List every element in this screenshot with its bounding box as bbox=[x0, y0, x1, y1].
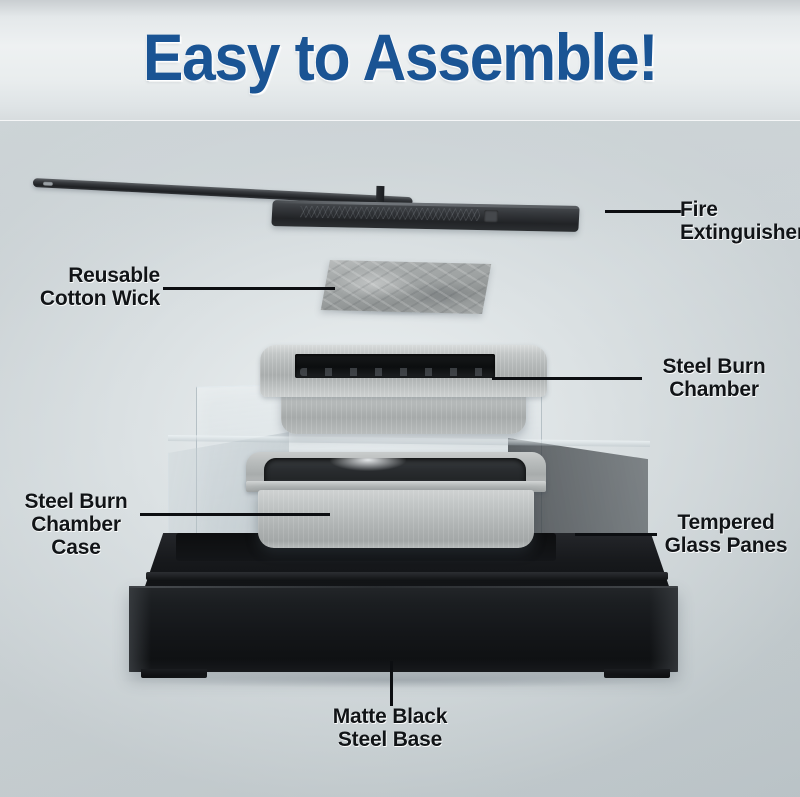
leader-line-steel-burn-chamber bbox=[492, 377, 642, 380]
leader-line-matte-black-steel-base bbox=[390, 661, 393, 706]
leader-line-fire-extinguisher bbox=[605, 210, 683, 213]
base-left-bevel bbox=[129, 586, 151, 672]
base-drop-shadow bbox=[120, 672, 686, 688]
fire-extinguisher-rod-hole bbox=[43, 182, 53, 187]
leader-line-steel-burn-chamber-case bbox=[140, 513, 330, 516]
snuffer-plate-texture bbox=[300, 206, 481, 221]
burn-chamber-notches bbox=[300, 368, 490, 376]
callout-label-reusable-cotton-wick: Reusable Cotton Wick bbox=[10, 264, 160, 310]
steel-burn-chamber-case-body bbox=[258, 490, 534, 548]
steel-burn-chamber-slot bbox=[295, 354, 495, 378]
infographic-canvas: Easy to Assemble! bbox=[0, 0, 800, 797]
matte-black-base-lip bbox=[146, 572, 668, 580]
callout-label-steel-burn-chamber: Steel Burn Chamber bbox=[648, 355, 780, 401]
fire-extinguisher-snuffer-plate bbox=[271, 200, 579, 232]
cotton-wick-fiber-texture bbox=[321, 260, 491, 314]
callout-label-steel-burn-chamber-case: Steel Burn Chamber Case bbox=[14, 490, 138, 559]
callout-label-fire-extinguisher: Fire Extinguisher bbox=[680, 198, 798, 244]
callout-label-tempered-glass-panes: Tempered Glass Panes bbox=[658, 511, 794, 557]
callout-label-matte-black-steel-base: Matte Black Steel Base bbox=[300, 705, 480, 751]
snuffer-plate-knob bbox=[484, 210, 499, 222]
leader-line-reusable-cotton-wick bbox=[163, 287, 335, 290]
case-cavity-highlight bbox=[330, 458, 406, 471]
steel-burn-chamber-top bbox=[260, 345, 547, 397]
base-right-bevel bbox=[650, 586, 678, 672]
matte-black-base-front-face bbox=[129, 586, 678, 672]
reusable-cotton-wick bbox=[321, 260, 491, 314]
base-highlight-edge bbox=[129, 586, 678, 588]
leader-line-tempered-glass-panes bbox=[575, 533, 657, 536]
case-brushed-texture bbox=[258, 490, 534, 548]
